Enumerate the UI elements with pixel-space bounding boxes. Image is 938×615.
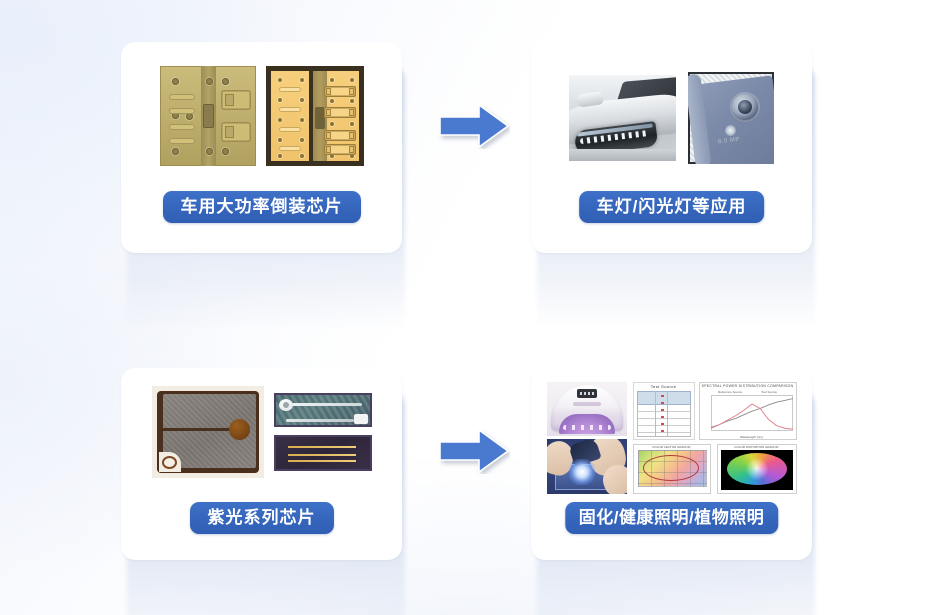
- reference-source-line: [711, 399, 793, 428]
- color-distortion-graphic: COLOR DISTORTION GRAPHIC: [717, 444, 797, 494]
- product-card-automotive-flipchip-slot: 车用大功率倒装芯片: [121, 42, 402, 253]
- flow-arrow-top: [438, 103, 510, 149]
- product-card-automotive-flipchip[interactable]: 车用大功率倒装芯片: [121, 42, 402, 253]
- uv-application-montage: Test Source SPECTRAL POWER DISTRIB: [547, 382, 797, 494]
- application-card-automotive-lighting[interactable]: 8.0 MP 车灯/闪光灯等应用: [531, 42, 812, 253]
- uv-curing-lamp-photo: [547, 382, 627, 436]
- color-vector-ellipse: [643, 455, 699, 481]
- legend-test-source: Test Source: [761, 390, 777, 394]
- camera-lens-icon: [732, 94, 758, 120]
- uv-chip-photo-teal: [274, 393, 372, 427]
- application-label-automotive-lighting: 车灯/闪光灯等应用: [579, 191, 765, 223]
- spectral-distribution-chart: SPECTRAL POWER DISTRIBUTION COMPARISON R…: [699, 382, 797, 440]
- test-source-table: Test Source: [633, 382, 695, 440]
- arrow-right-icon: [438, 428, 510, 474]
- product-application-flow-diagram: 车用大功率倒装芯片: [0, 0, 938, 615]
- test-source-table-title: Test Source: [637, 384, 691, 389]
- test-source-line: [711, 404, 793, 429]
- spectral-chart-title: SPECTRAL POWER DISTRIBUTION COMPARISON: [699, 384, 797, 388]
- product-label-uv-series: 紫光系列芯片: [190, 502, 334, 534]
- flip-chip-die-photo-2: [266, 66, 364, 166]
- application-card-uv-applications-slot: Test Source SPECTRAL POWER DISTRIB: [531, 368, 812, 560]
- color-vector-title: COLOR VECTOR GRAPHIC: [633, 445, 711, 449]
- card-media-group: Test Source SPECTRAL POWER DISTRIB: [531, 382, 812, 494]
- uv-chip-photo-large: [152, 386, 264, 478]
- car-headlight-photo: [569, 75, 676, 161]
- application-card-automotive-lighting-slot: 8.0 MP 车灯/闪光灯等应用: [531, 42, 812, 253]
- application-label-uv-applications: 固化/健康照明/植物照明: [565, 502, 778, 534]
- flow-arrow-bottom: [438, 428, 510, 474]
- color-distortion-title: COLOR DISTORTION GRAPHIC: [717, 445, 797, 449]
- product-card-uv-series-slot: 紫光系列芯片: [121, 368, 402, 560]
- product-label-automotive-flipchip: 车用大功率倒装芯片: [163, 191, 361, 223]
- legend-reference-source: Reference Source: [718, 390, 742, 394]
- card-media-group: [121, 382, 402, 482]
- phone-camera-flash-photo: 8.0 MP: [688, 72, 774, 164]
- product-card-uv-series[interactable]: 紫光系列芯片: [121, 368, 402, 560]
- arrow-right-icon: [438, 103, 510, 149]
- card-media-group: [121, 56, 402, 176]
- card-media-group: 8.0 MP: [531, 58, 812, 178]
- color-wheel-icon: [727, 453, 787, 485]
- spectral-chart-xlabel: Wavelength (nm): [711, 435, 793, 439]
- application-card-uv-applications[interactable]: Test Source SPECTRAL POWER DISTRIB: [531, 368, 812, 560]
- uv-curing-hand-photo: [547, 439, 627, 494]
- uv-chip-photo-purple: [274, 435, 372, 471]
- bond-pad-icon: [229, 419, 250, 440]
- spectral-chart-legend: Reference Source Test Source: [709, 390, 787, 394]
- flip-chip-die-photo-1: [160, 66, 256, 166]
- flash-led-icon: [726, 126, 735, 135]
- uv-chip-photo-stack: [274, 393, 372, 471]
- color-vector-graphic: COLOR VECTOR GRAPHIC: [633, 444, 711, 494]
- spectral-chart-plot: [711, 395, 793, 431]
